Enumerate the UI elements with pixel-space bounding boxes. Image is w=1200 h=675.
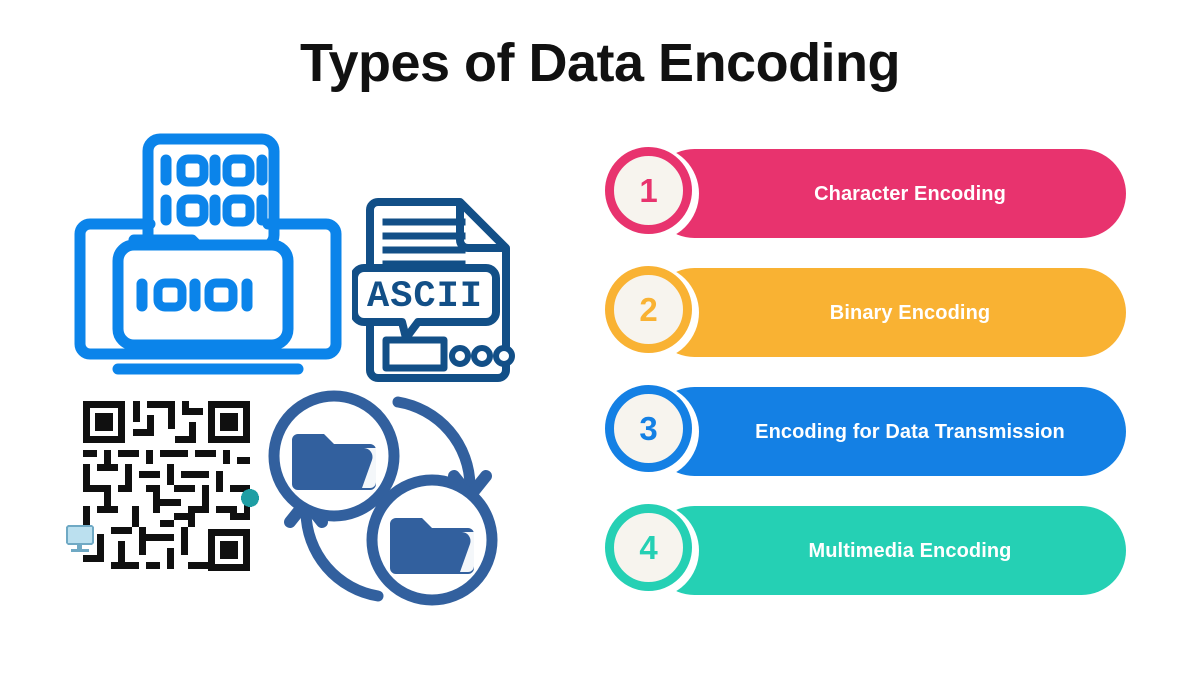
list-item-number: 3: [639, 412, 657, 445]
badge-gap: 4: [604, 503, 699, 598]
badge-gap: 2: [604, 265, 699, 360]
list-item-badge: 4: [605, 504, 692, 591]
list-item-number: 2: [639, 293, 657, 326]
slide-root: Types of Data Encoding: [0, 0, 1200, 675]
list-item-label: Multimedia Encoding: [808, 541, 1011, 561]
list-item[interactable]: Encoding for Data Transmission 3: [604, 384, 1126, 479]
list-item[interactable]: Multimedia Encoding 4: [604, 503, 1126, 598]
list-item-label: Binary Encoding: [830, 303, 990, 323]
badge-gap: 3: [604, 384, 699, 479]
list-item[interactable]: Binary Encoding 2: [604, 265, 1126, 360]
list-item-bar[interactable]: Character Encoding: [650, 149, 1126, 238]
list-item-badge: 2: [605, 266, 692, 353]
list-item-number: 1: [639, 174, 657, 207]
list-item-number: 4: [639, 531, 657, 564]
list-item-badge: 1: [605, 147, 692, 234]
list-item-bar[interactable]: Multimedia Encoding: [650, 506, 1126, 595]
list-item-badge: 3: [605, 385, 692, 472]
list-item-bar[interactable]: Encoding for Data Transmission: [650, 387, 1126, 476]
list-item-label: Encoding for Data Transmission: [755, 422, 1065, 442]
list-item-bar[interactable]: Binary Encoding: [650, 268, 1126, 357]
badge-gap: 1: [604, 146, 699, 241]
list-item-label: Character Encoding: [814, 184, 1006, 204]
list-item[interactable]: Character Encoding 1: [604, 146, 1126, 241]
encoding-types-list: Character Encoding 1 Binary Encoding 2 E…: [0, 0, 1200, 675]
